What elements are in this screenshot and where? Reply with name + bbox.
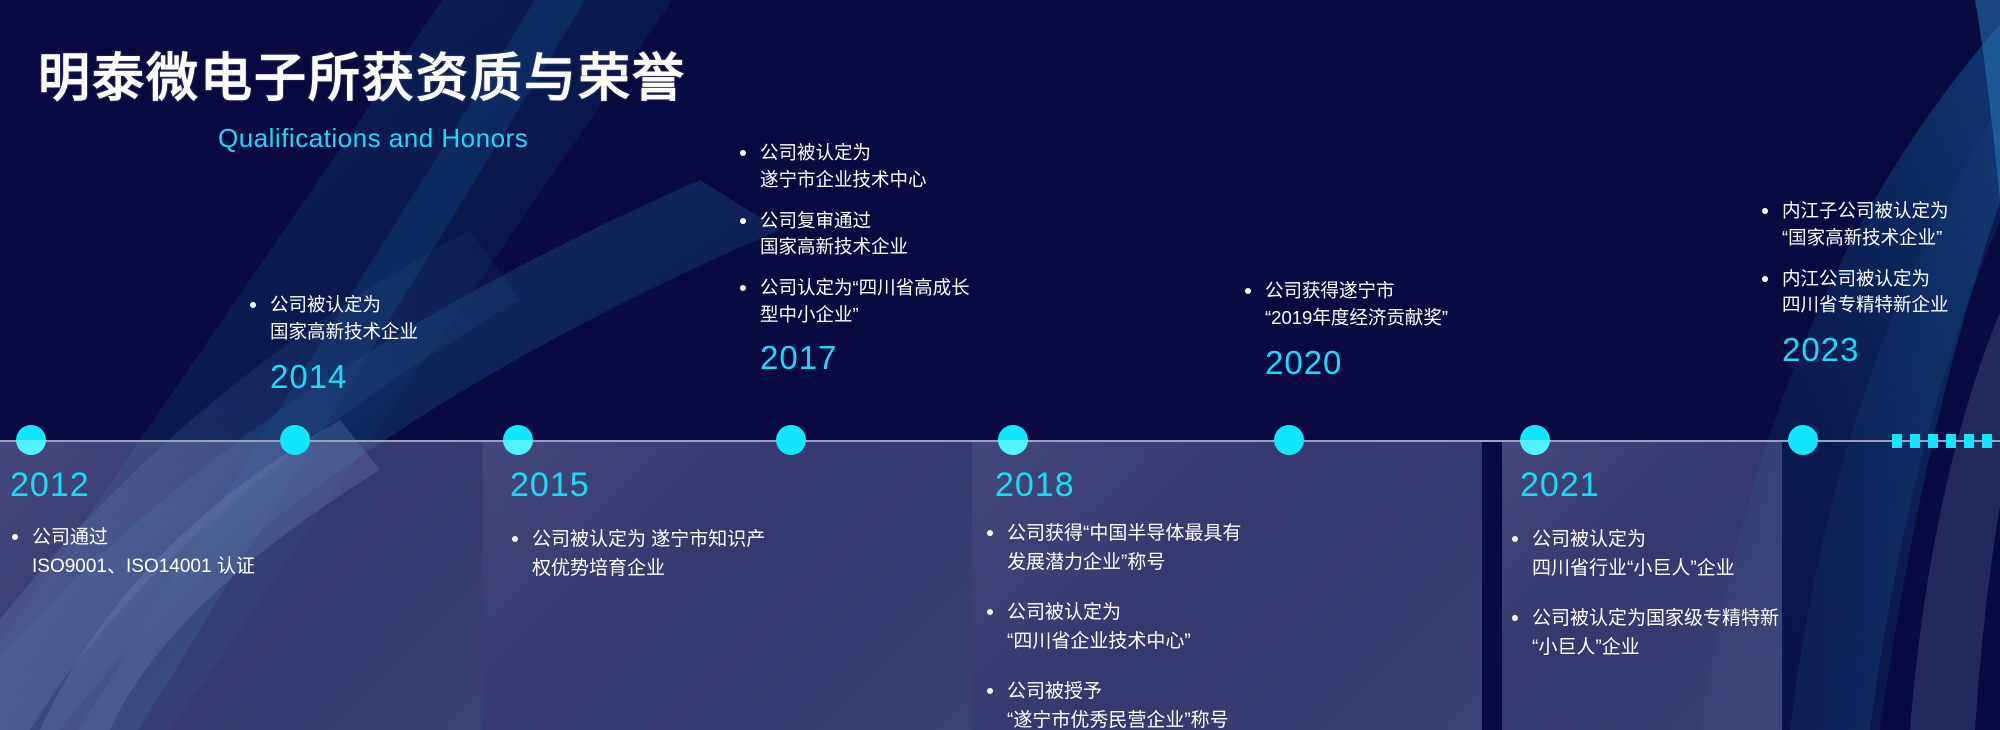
event-2018-bullets: 公司获得“中国半导体最具有 发展潜力企业”称号 公司被认定为 “四川省企业技术中… bbox=[985, 520, 1285, 730]
event-2021: 2021 公司被认定为 四川省行业“小巨人”企业 公司被认定为国家级专精特新 “… bbox=[1510, 468, 1820, 684]
event-2021-bullets: 公司被认定为 四川省行业“小巨人”企业 公司被认定为国家级专精特新 “小巨人”企… bbox=[1510, 526, 1820, 662]
axis-dash bbox=[1946, 434, 1956, 448]
page-subtitle: Qualifications and Honors bbox=[218, 123, 528, 154]
timeline-dot-2017[interactable] bbox=[776, 425, 806, 455]
bullet: 内江子公司被认定为 “国家高新技术企业” bbox=[1760, 198, 2000, 252]
bullet: 公司被授予 “遂宁市优秀民营企业”称号 bbox=[985, 678, 1285, 730]
timeline-dot-2015[interactable] bbox=[503, 425, 533, 455]
axis-dash bbox=[1982, 434, 1992, 448]
slide-canvas: 明泰微电子所获资质与荣誉 Qualifications and Honors 公… bbox=[0, 0, 2000, 730]
timeline-axis-dashes bbox=[1892, 434, 1992, 448]
event-2014: 公司被认定为 国家高新技术企业 2014 bbox=[248, 292, 508, 393]
event-2012: 2012 公司通过 ISO9001、ISO14001 认证 bbox=[10, 468, 310, 603]
timeline-dot-2014[interactable] bbox=[280, 425, 310, 455]
bullet: 公司被认定为 “四川省企业技术中心” bbox=[985, 599, 1285, 656]
event-2021-year: 2021 bbox=[1520, 468, 1820, 502]
bullet: 公司获得“中国半导体最具有 发展潜力企业”称号 bbox=[985, 520, 1285, 577]
event-2015-year: 2015 bbox=[510, 468, 780, 502]
bullet: 公司通过 ISO9001、ISO14001 认证 bbox=[10, 524, 310, 581]
event-2017-year: 2017 bbox=[760, 341, 1028, 374]
event-2023-year: 2023 bbox=[1782, 333, 2000, 366]
event-2012-year: 2012 bbox=[10, 468, 310, 502]
event-2014-bullets: 公司被认定为 国家高新技术企业 bbox=[248, 292, 508, 346]
event-2017-bullets: 公司被认定为 遂宁市企业技术中心 公司复审通过 国家高新技术企业 公司认定为“四… bbox=[738, 140, 1028, 329]
event-2023-bullets: 内江子公司被认定为 “国家高新技术企业” 内江公司被认定为 四川省专精特新企业 bbox=[1760, 198, 2000, 319]
timeline-dot-2012[interactable] bbox=[16, 425, 46, 455]
timeline-dot-2018[interactable] bbox=[998, 425, 1028, 455]
event-2014-year: 2014 bbox=[270, 360, 508, 393]
timeline-dot-2020[interactable] bbox=[1274, 425, 1304, 455]
axis-dash bbox=[1964, 434, 1974, 448]
event-2015-bullets: 公司被认定为 遂宁市知识产权优势培育企业 bbox=[510, 526, 780, 583]
bullet: 公司复审通过 国家高新技术企业 bbox=[738, 208, 1028, 262]
event-2018-year: 2018 bbox=[995, 468, 1285, 502]
axis-dash bbox=[1910, 434, 1920, 448]
bullet: 内江公司被认定为 四川省专精特新企业 bbox=[1760, 266, 2000, 320]
axis-dash bbox=[1892, 434, 1902, 448]
event-2012-bullets: 公司通过 ISO9001、ISO14001 认证 bbox=[10, 524, 310, 581]
event-2017: 公司被认定为 遂宁市企业技术中心 公司复审通过 国家高新技术企业 公司认定为“四… bbox=[738, 140, 1028, 374]
page-title: 明泰微电子所获资质与荣誉 bbox=[38, 36, 686, 111]
event-2015: 2015 公司被认定为 遂宁市知识产权优势培育企业 bbox=[495, 468, 780, 605]
timeline-dot-2023[interactable] bbox=[1788, 425, 1818, 455]
event-2020-year: 2020 bbox=[1265, 346, 1533, 379]
bullet: 公司被认定为国家级专精特新 “小巨人”企业 bbox=[1510, 605, 1820, 662]
event-2020: 公司获得遂宁市 “2019年度经济贡献奖” 2020 bbox=[1243, 278, 1533, 379]
bullet: 公司认定为“四川省高成长 型中小企业” bbox=[738, 275, 1028, 329]
timeline-dot-2021[interactable] bbox=[1520, 425, 1550, 455]
bullet: 公司被认定为 国家高新技术企业 bbox=[248, 292, 508, 346]
bullet: 公司获得遂宁市 “2019年度经济贡献奖” bbox=[1243, 278, 1533, 332]
event-2023: 内江子公司被认定为 “国家高新技术企业” 内江公司被认定为 四川省专精特新企业 … bbox=[1760, 198, 2000, 366]
bullet: 公司被认定为 遂宁市知识产权优势培育企业 bbox=[510, 526, 780, 583]
bullet: 公司被认定为 四川省行业“小巨人”企业 bbox=[1510, 526, 1820, 583]
axis-dash bbox=[1928, 434, 1938, 448]
event-2018: 2018 公司获得“中国半导体最具有 发展潜力企业”称号 公司被认定为 “四川省… bbox=[985, 468, 1285, 730]
bullet: 公司被认定为 遂宁市企业技术中心 bbox=[738, 140, 1028, 194]
event-2020-bullets: 公司获得遂宁市 “2019年度经济贡献奖” bbox=[1243, 278, 1533, 332]
